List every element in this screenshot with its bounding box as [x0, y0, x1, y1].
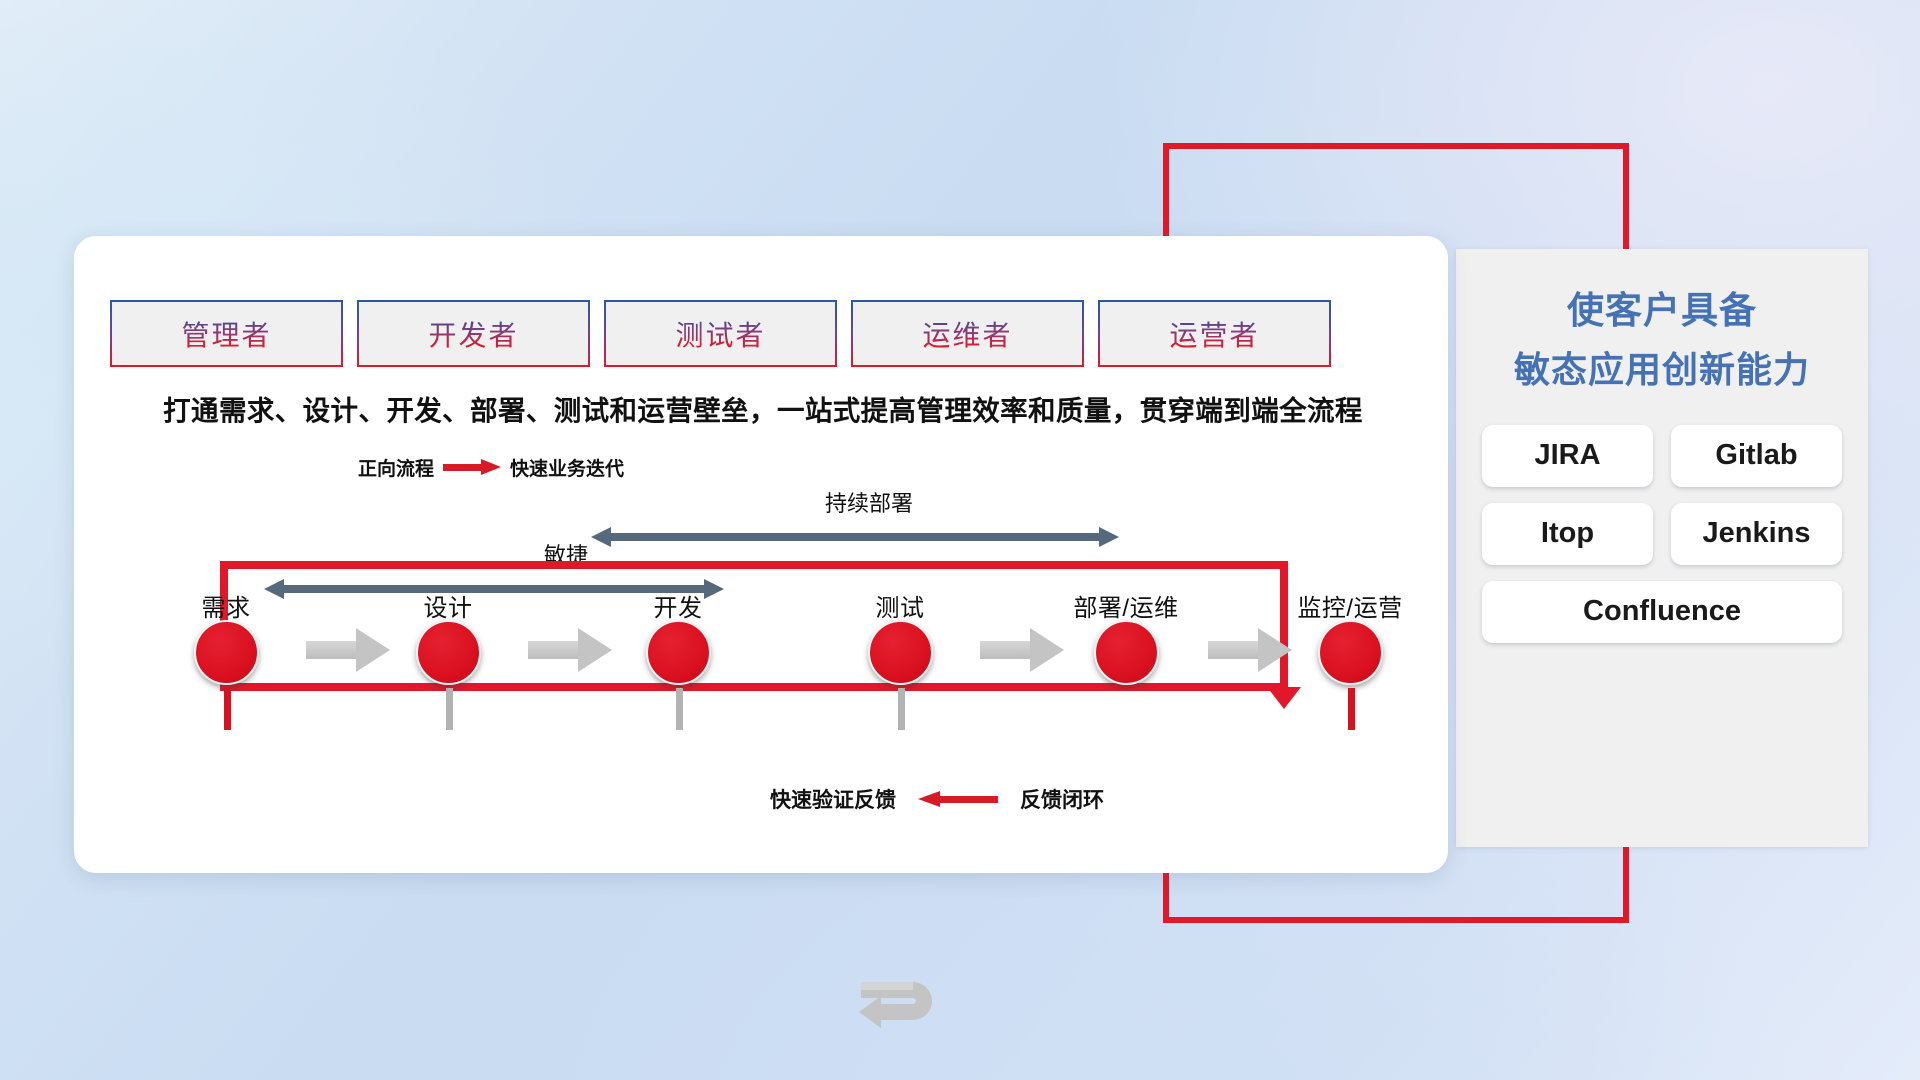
- chevron-arrow-icon: [980, 628, 1064, 672]
- stage-label: 部署/运维: [1066, 588, 1186, 620]
- forward-flow-annotation: 正向流程 快速业务迭代: [358, 454, 624, 481]
- pipeline-stage-deploy-ops[interactable]: 部署/运维: [1066, 588, 1186, 685]
- role-label: 管理者: [181, 314, 271, 354]
- stage-stem: [898, 688, 905, 730]
- stage-label: 开发: [618, 588, 738, 620]
- role-box-tester[interactable]: 测试者: [604, 300, 837, 367]
- feedback-right-label: 反馈闭环: [1020, 784, 1104, 814]
- stage-label: 设计: [388, 588, 508, 620]
- outer-frame-bottom-segment: [1163, 917, 1629, 923]
- double-arrow-continuous-deployment-icon: [591, 527, 1119, 547]
- stage-label: 监控/运营: [1290, 588, 1410, 620]
- stage-node-dot: [1318, 620, 1383, 685]
- pipeline-stage-testing[interactable]: 测试: [840, 588, 960, 685]
- role-box-operations[interactable]: 运营者: [1098, 300, 1331, 367]
- arrow-right-red-icon: [443, 459, 501, 476]
- tool-badge-confluence[interactable]: Confluence: [1482, 581, 1842, 643]
- arrow-left-red-icon: [918, 791, 998, 808]
- chevron-arrow-icon: [306, 628, 390, 672]
- feedback-loop-annotation: 快速验证反馈 反馈闭环: [770, 784, 1104, 814]
- pipeline: 需求 设计 开发 测试: [128, 588, 1398, 718]
- role-box-manager[interactable]: 管理者: [110, 300, 343, 367]
- span-arrow-label-continuous-deployment: 持续部署: [739, 486, 999, 518]
- stage-node-dot: [646, 620, 711, 685]
- chevron-arrow-icon: [1208, 628, 1292, 672]
- pipeline-stage-design[interactable]: 设计: [388, 588, 508, 685]
- loop-path-top-segment: [220, 561, 1288, 569]
- stage-stem: [446, 688, 453, 730]
- tools-panel: 使客户具备 敏态应用创新能力 JIRA Gitlab Itop Jenkins …: [1456, 249, 1868, 847]
- loop-back-arrow-icon: [851, 968, 955, 1044]
- tool-badge-jira[interactable]: JIRA: [1482, 425, 1653, 487]
- stage-node-dot: [868, 620, 933, 685]
- forward-flow-right-label: 快速业务迭代: [510, 454, 624, 481]
- pipeline-stage-requirements[interactable]: 需求: [166, 588, 286, 685]
- stage-stem: [1348, 688, 1355, 730]
- stage-node-dot: [194, 620, 259, 685]
- stage-label: 需求: [166, 588, 286, 620]
- tool-badge-jenkins[interactable]: Jenkins: [1671, 503, 1842, 565]
- role-label: 运维者: [922, 314, 1012, 354]
- role-label: 运营者: [1169, 314, 1259, 354]
- stage-node-dot: [1094, 620, 1159, 685]
- outer-frame-top-segment: [1163, 143, 1629, 149]
- tools-panel-title-line1: 使客户具备: [1456, 285, 1868, 338]
- feedback-left-label: 快速验证反馈: [770, 784, 896, 814]
- card-tagline: 打通需求、设计、开发、部署、测试和运营壁垒，一站式提高管理效率和质量，贯穿端到端…: [108, 388, 1418, 428]
- role-label: 开发者: [428, 314, 518, 354]
- chevron-arrow-icon: [528, 628, 612, 672]
- main-card: 管理者 开发者 测试者 运维者 运营者 打通需求、设计、开发、部署、测试和运营壁…: [74, 236, 1448, 873]
- tool-badge-gitlab[interactable]: Gitlab: [1671, 425, 1842, 487]
- role-box-row: 管理者 开发者 测试者 运维者 运营者: [110, 300, 1331, 367]
- tool-badge-grid: JIRA Gitlab Itop Jenkins Confluence: [1480, 425, 1844, 643]
- stage-label: 测试: [840, 588, 960, 620]
- pipeline-stage-development[interactable]: 开发: [618, 588, 738, 685]
- stage-stem: [224, 688, 231, 730]
- role-box-developer[interactable]: 开发者: [357, 300, 590, 367]
- pipeline-stage-monitor-operations[interactable]: 监控/运营: [1290, 588, 1410, 685]
- stage-node-dot: [416, 620, 481, 685]
- role-box-ops[interactable]: 运维者: [851, 300, 1084, 367]
- forward-flow-left-label: 正向流程: [358, 454, 434, 481]
- tools-panel-title-line2: 敏态应用创新能力: [1456, 344, 1868, 395]
- role-label: 测试者: [675, 314, 765, 354]
- tool-badge-itop[interactable]: Itop: [1482, 503, 1653, 565]
- stage-stem: [676, 688, 683, 730]
